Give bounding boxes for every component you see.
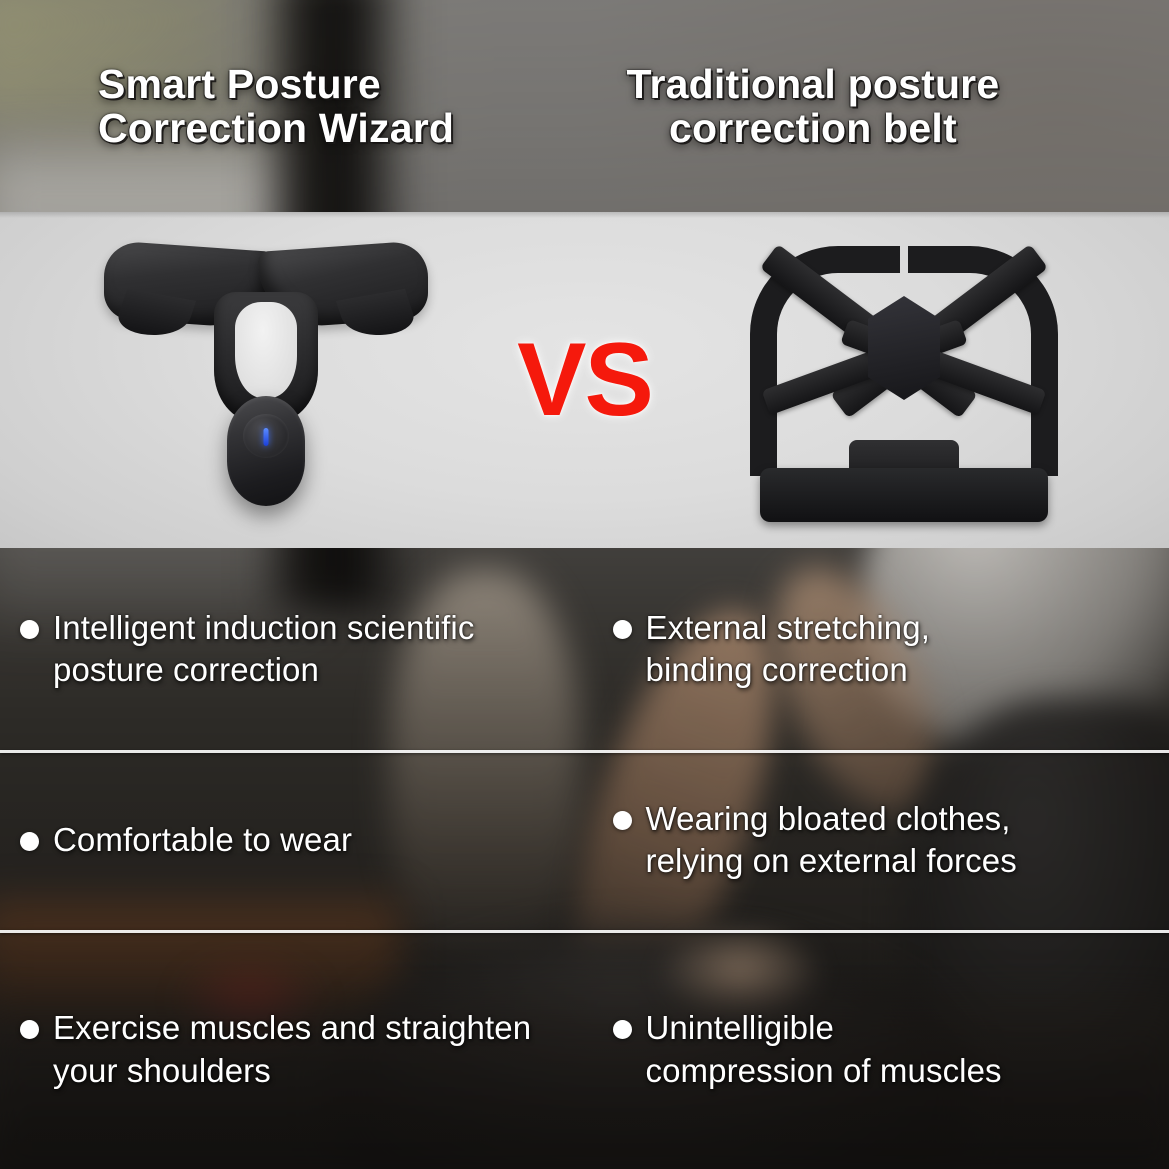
- dot-bullet-icon: [20, 1020, 39, 1039]
- traditional-belt-image: [744, 240, 1064, 530]
- bullet-row: Exercise muscles and straighten your sho…: [20, 1007, 531, 1091]
- feature-text-right-1: External stretching, binding correction: [646, 607, 930, 691]
- headings-row: Smart Posture Correction Wizard Traditio…: [0, 0, 1169, 212]
- feature-text-left-1: Intelligent induction scientific posture…: [53, 607, 474, 691]
- feature-row-1: Intelligent induction scientific posture…: [0, 548, 1169, 750]
- device-center-opening: [235, 302, 297, 398]
- feature-text-left-3: Exercise muscles and straighten your sho…: [53, 1007, 531, 1091]
- feature-cell-right-2: Wearing bloated clothes, relying on exte…: [585, 750, 1169, 930]
- feature-cell-left-2: Comfortable to wear: [0, 750, 585, 930]
- smart-posture-device-image: [96, 236, 436, 536]
- bullet-row: Comfortable to wear: [20, 819, 352, 861]
- infographic-stage: Smart Posture Correction Wizard Traditio…: [0, 0, 1169, 1169]
- feature-text-right-3: Unintelligible compression of muscles: [646, 1007, 1002, 1091]
- bullet-row: Unintelligible compression of muscles: [613, 1007, 1002, 1091]
- vs-badge: VS: [517, 328, 652, 432]
- feature-comparison-table: Intelligent induction scientific posture…: [0, 548, 1169, 1169]
- dot-bullet-icon: [613, 1020, 632, 1039]
- band-top-shadow: [0, 212, 1169, 218]
- product-comparison-band: VS: [0, 212, 1169, 548]
- feature-row-2: Comfortable to wear Wearing bloated clot…: [0, 750, 1169, 930]
- feature-cell-left-1: Intelligent induction scientific posture…: [0, 548, 585, 750]
- device-button-pod: [227, 396, 305, 506]
- bullet-row: Wearing bloated clothes, relying on exte…: [613, 798, 1017, 882]
- feature-text-right-2: Wearing bloated clothes, relying on exte…: [646, 798, 1017, 882]
- dot-bullet-icon: [613, 620, 632, 639]
- feature-cell-right-3: Unintelligible compression of muscles: [585, 930, 1169, 1169]
- dot-bullet-icon: [613, 811, 632, 830]
- dot-bullet-icon: [20, 620, 39, 639]
- bullet-row: External stretching, binding correction: [613, 607, 930, 691]
- device-led-indicator-icon: [264, 428, 269, 446]
- heading-cell-left: Smart Posture Correction Wizard: [0, 0, 585, 212]
- bullet-row: Intelligent induction scientific posture…: [20, 607, 474, 691]
- feature-cell-right-1: External stretching, binding correction: [585, 548, 1169, 750]
- belt-waist-band: [760, 468, 1048, 522]
- heading-cell-right: Traditional posture correction belt: [585, 0, 1169, 212]
- dot-bullet-icon: [20, 832, 39, 851]
- heading-smart-device: Smart Posture Correction Wizard: [98, 62, 454, 151]
- feature-text-left-2: Comfortable to wear: [53, 819, 352, 861]
- heading-traditional-belt: Traditional posture correction belt: [627, 62, 1000, 151]
- feature-cell-left-3: Exercise muscles and straighten your sho…: [0, 930, 585, 1169]
- feature-row-3: Exercise muscles and straighten your sho…: [0, 930, 1169, 1169]
